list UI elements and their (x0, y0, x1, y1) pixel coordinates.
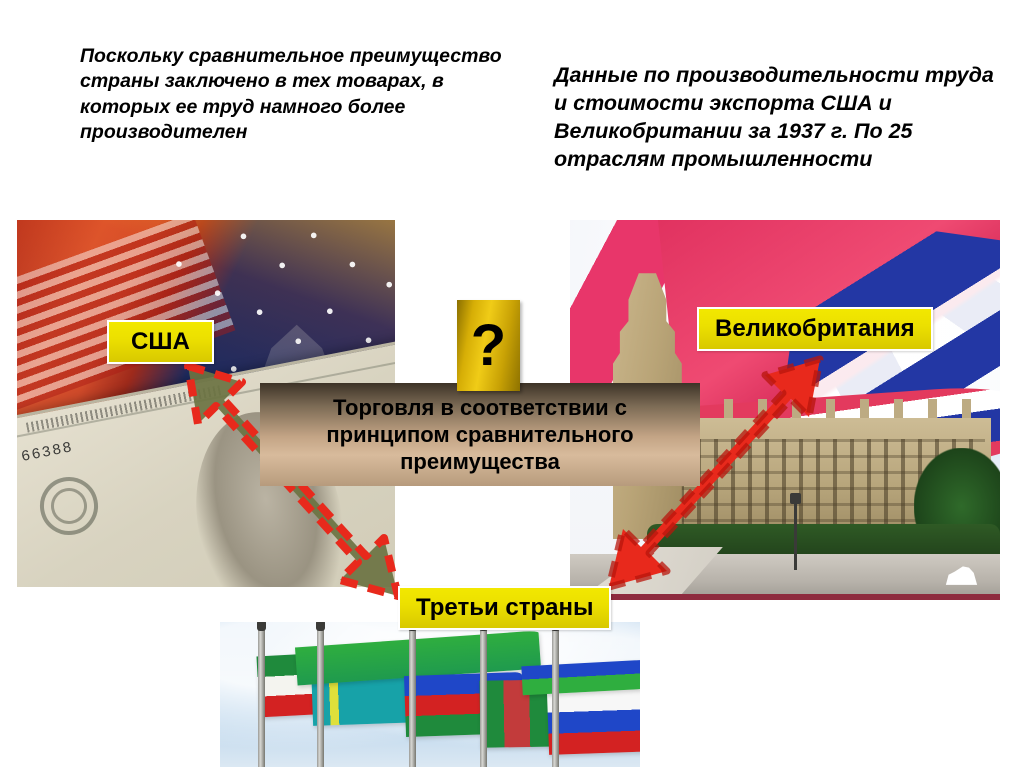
center-statement-box: Торговля в соответствии с принципом срав… (260, 383, 700, 486)
label-uk: Великобритания (697, 307, 933, 351)
slide-canvas: Поскольку сравнительное преимущество стр… (0, 0, 1024, 767)
heading-text-left: Поскольку сравнительное преимущество стр… (80, 44, 510, 145)
flag-pole (480, 628, 487, 767)
flag-pole (258, 628, 265, 767)
flag-pole (317, 628, 324, 767)
flag-pole (552, 628, 559, 767)
question-mark-badge: ? (457, 300, 520, 391)
street-lamp-icon (794, 501, 797, 569)
label-third-countries: Третьи страны (398, 586, 611, 630)
label-usa: США (107, 320, 214, 364)
photo-third-countries (220, 622, 640, 767)
flag-pole (409, 628, 416, 767)
russia-flag (547, 687, 640, 755)
uk-photo-bottom-strip (570, 594, 1000, 600)
heading-text-right: Данные по производительности труда и сто… (554, 62, 1006, 174)
teal-flag (522, 659, 640, 695)
